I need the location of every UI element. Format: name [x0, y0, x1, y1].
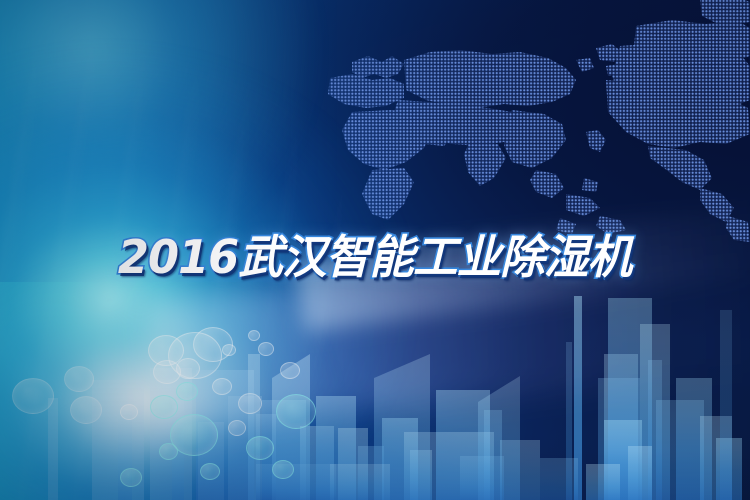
bubble	[70, 396, 102, 424]
bubble	[12, 378, 54, 414]
bubble	[238, 393, 262, 414]
bubble	[120, 468, 142, 487]
bubble	[246, 436, 274, 460]
bubble	[176, 382, 198, 401]
bubble	[228, 420, 246, 436]
bubble	[150, 395, 178, 419]
bubble	[272, 460, 294, 479]
bubble	[280, 362, 300, 379]
bubble	[64, 366, 94, 392]
bubble	[200, 463, 220, 480]
bubble	[258, 342, 274, 356]
banner-title: 2016武汉智能工业除湿机	[118, 234, 631, 280]
bubble	[168, 332, 222, 379]
bubble	[170, 414, 218, 456]
bubble	[248, 330, 260, 341]
bubble	[222, 344, 236, 356]
bubble	[276, 394, 316, 429]
bubble	[212, 378, 232, 395]
banner-title-area: 2016武汉智能工业除湿机	[0, 222, 750, 292]
promo-banner: 2016武汉智能工业除湿机	[0, 0, 750, 500]
bubble	[120, 404, 138, 420]
